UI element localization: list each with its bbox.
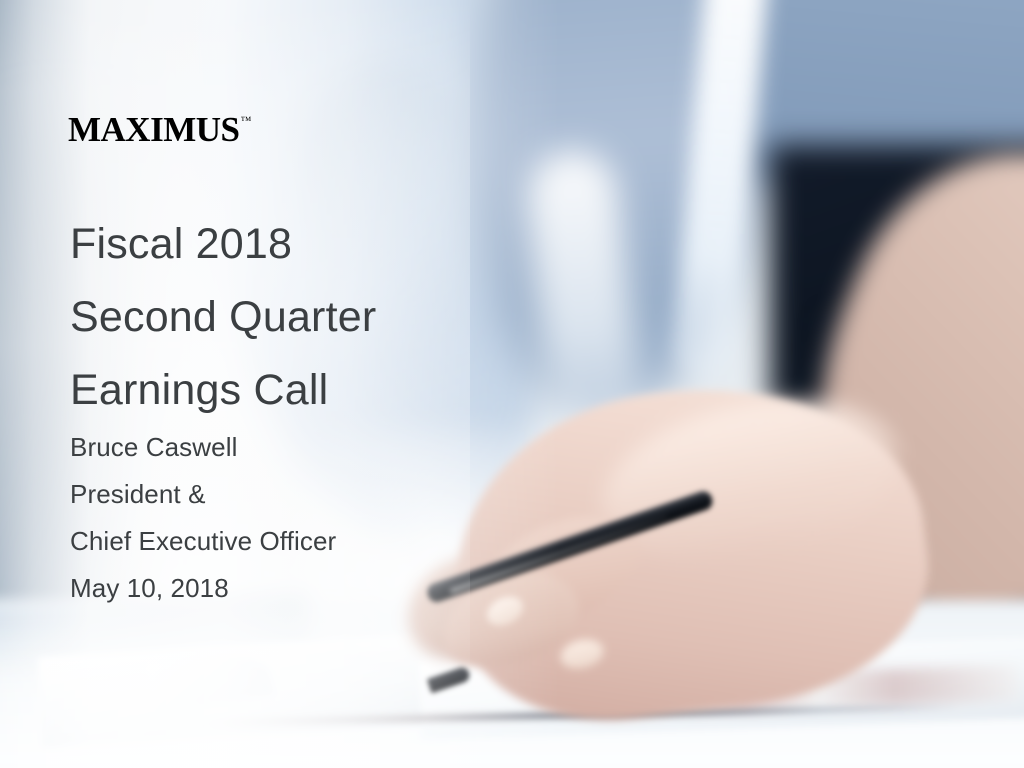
presenter-block: Bruce Caswell President & Chief Executiv… bbox=[70, 424, 490, 612]
title-line-3: Earnings Call bbox=[70, 354, 490, 427]
presentation-slide: MAXIMUS™ Fiscal 2018 Second Quarter Earn… bbox=[0, 0, 1024, 768]
maximus-logo: MAXIMUS™ bbox=[68, 112, 251, 147]
presenter-role-line-2: Chief Executive Officer bbox=[70, 518, 490, 565]
title-line-2: Second Quarter bbox=[70, 281, 490, 354]
logo-wordmark: MAXIMUS bbox=[68, 110, 239, 149]
title-line-1: Fiscal 2018 bbox=[70, 208, 490, 281]
slide-title: Fiscal 2018 Second Quarter Earnings Call bbox=[70, 208, 490, 427]
presenter-name: Bruce Caswell bbox=[70, 424, 490, 471]
presentation-date: May 10, 2018 bbox=[70, 565, 490, 612]
presenter-role-line-1: President & bbox=[70, 471, 490, 518]
trademark-icon: ™ bbox=[240, 115, 250, 127]
slide-content: MAXIMUS™ Fiscal 2018 Second Quarter Earn… bbox=[0, 0, 1024, 768]
